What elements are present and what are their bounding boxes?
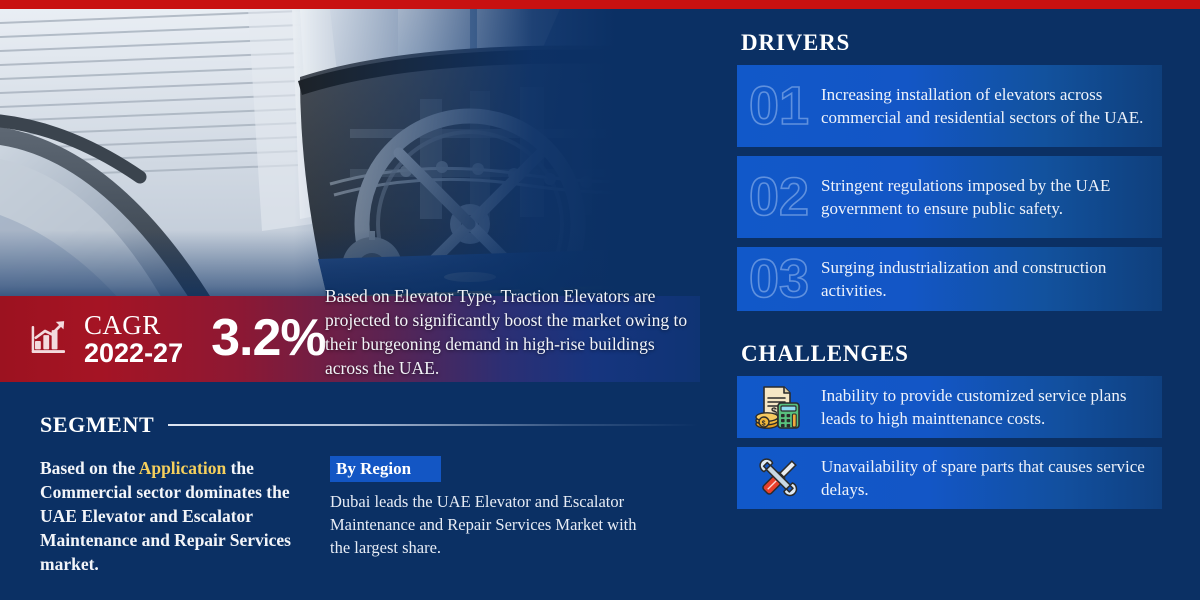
elevator-type-statement: Based on Elevator Type, Traction Elevato… (325, 284, 695, 380)
svg-text:$: $ (762, 420, 766, 427)
segment-title: SEGMENT (40, 412, 154, 438)
segment-columns: Based on the Application the Commercial … (0, 438, 700, 576)
segment-application-column: Based on the Application the Commercial … (40, 456, 308, 576)
driver-number: 03 (737, 252, 821, 306)
driver-number: 01 (737, 79, 821, 133)
bar-chart-growth-icon (30, 316, 70, 356)
segment-application-highlight: Application (139, 458, 227, 478)
wrench-screwdriver-icon (755, 455, 803, 501)
driver-card: 01 Increasing installation of elevators … (737, 65, 1162, 147)
challenge-card: $ $ (737, 376, 1162, 438)
segment-application-text: Based on the Application the Commercial … (40, 456, 308, 576)
challenge-text: Unavailability of spare parts that cause… (821, 449, 1162, 507)
cagr-label: CAGR (84, 312, 183, 339)
challenge-icon-wrap: $ $ (737, 384, 821, 430)
infographic-canvas: CAGR 2022-27 3.2% Based on Elevator Type… (0, 0, 1200, 600)
challenge-card: Unavailability of spare parts that cause… (737, 447, 1162, 509)
segment-header: SEGMENT (0, 390, 700, 438)
cagr-content: CAGR 2022-27 3.2% (0, 310, 326, 368)
challenges-title: CHALLENGES (700, 333, 1200, 367)
drivers-title: DRIVERS (700, 9, 1200, 56)
segment-divider (168, 424, 698, 426)
segment-section: SEGMENT Based on the Application the Com… (0, 390, 700, 600)
driver-card: 03 Surging industrialization and constru… (737, 247, 1162, 311)
right-panel: DRIVERS 01 Increasing installation of el… (700, 9, 1200, 600)
segment-application-lead: Based on the (40, 458, 139, 478)
challenge-text: Inability to provide customized service … (821, 378, 1162, 436)
top-accent-bar (0, 0, 1200, 9)
driver-number: 02 (737, 170, 821, 224)
cagr-period: 2022-27 (84, 340, 183, 367)
cagr-labels: CAGR 2022-27 (84, 312, 183, 367)
challenge-icon-wrap (737, 455, 821, 501)
driver-text: Stringent regulations imposed by the UAE… (821, 162, 1162, 233)
by-region-badge: By Region (330, 456, 441, 482)
driver-text: Increasing installation of elevators acr… (821, 71, 1162, 142)
driver-card: 02 Stringent regulations imposed by the … (737, 156, 1162, 238)
cagr-value: 3.2% (211, 308, 326, 368)
segment-region-column: By Region Dubai leads the UAE Elevator a… (330, 456, 660, 576)
segment-region-text: Dubai leads the UAE Elevator and Escalat… (330, 490, 660, 559)
driver-text: Surging industrialization and constructi… (821, 244, 1162, 315)
invoice-calculator-coins-icon: $ $ (754, 384, 804, 430)
